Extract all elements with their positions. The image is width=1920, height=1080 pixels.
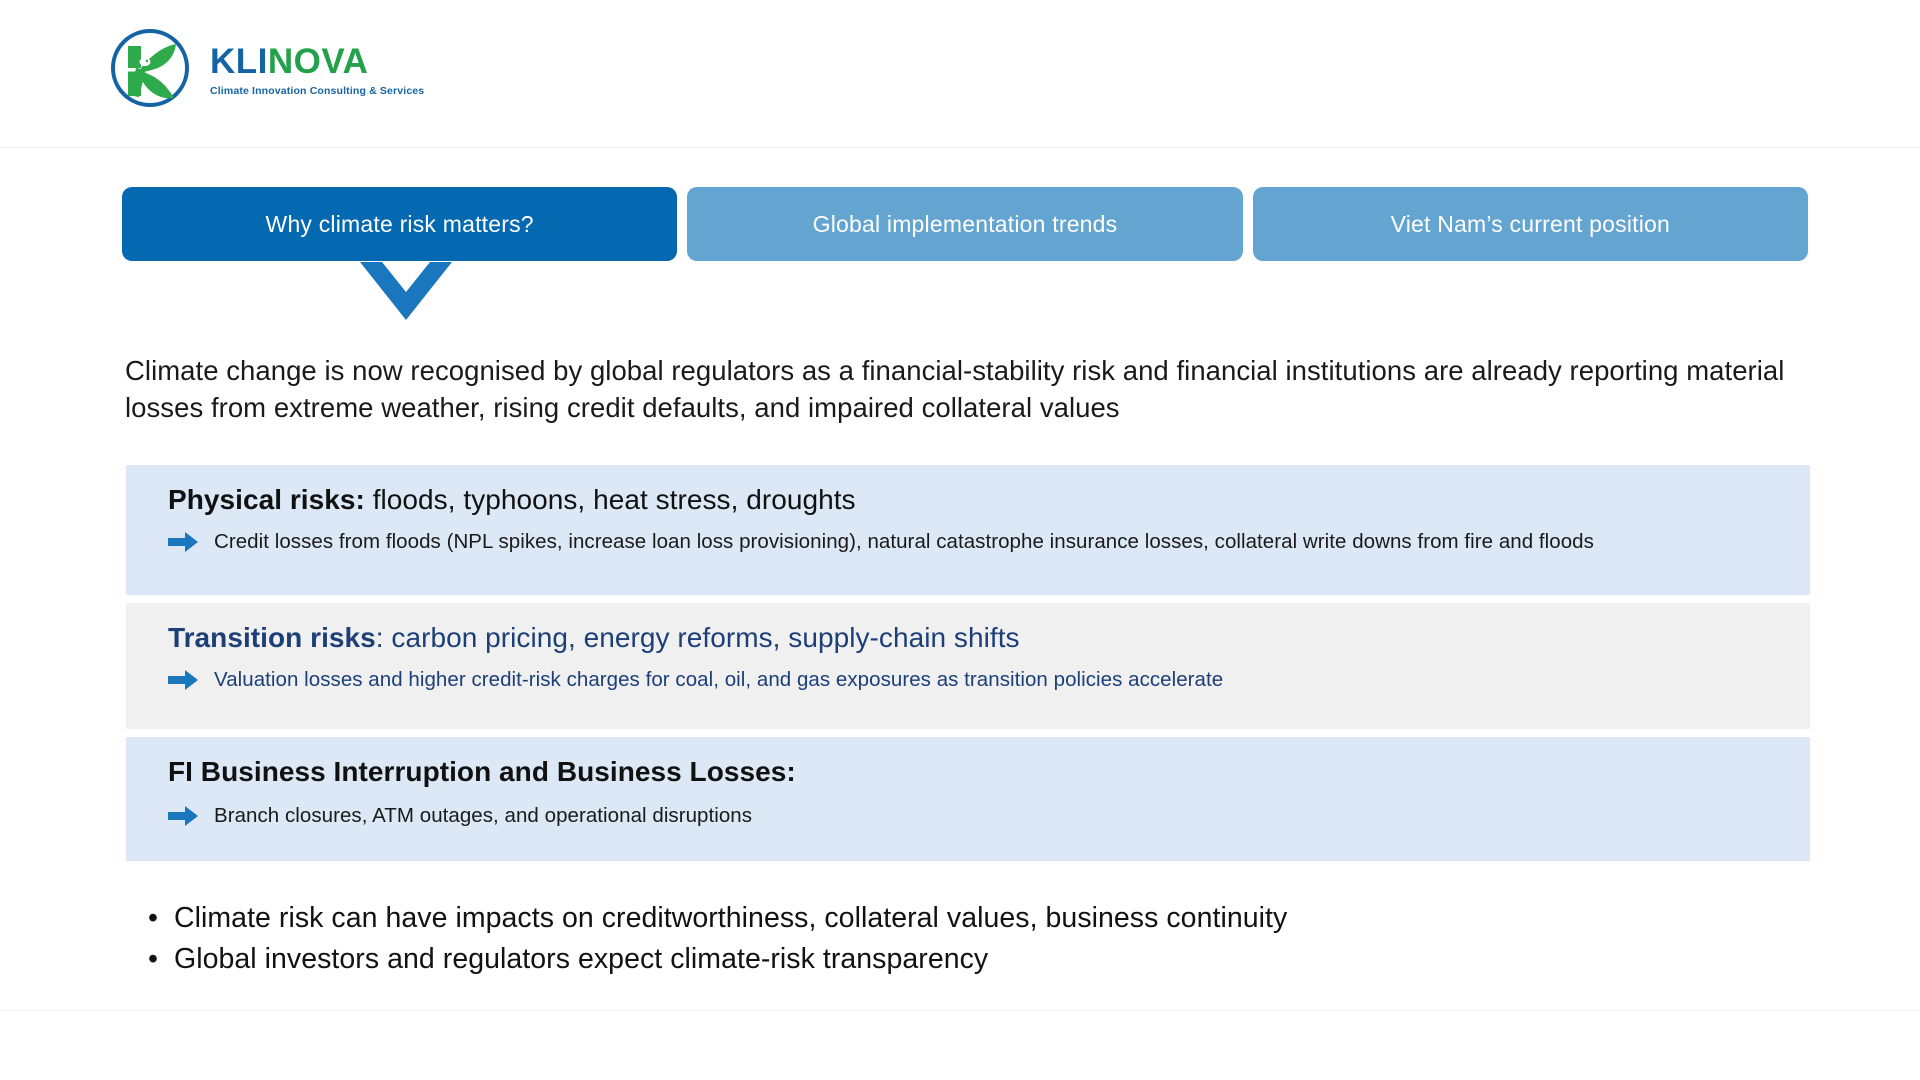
brand-name-part2: NOVA: [268, 42, 369, 81]
card-physical-risks-bullet: Credit losses from floods (NPL spikes, i…: [168, 529, 1810, 555]
footer-divider: [0, 1010, 1920, 1011]
card-fi-business-interruption: FI Business Interruption and Business Lo…: [126, 737, 1810, 861]
card-physical-risks: Physical risks: floods, typhoons, heat s…: [126, 465, 1810, 595]
brand-name-part1: KLI: [210, 42, 268, 81]
list-item: Global investors and regulators expect c…: [148, 939, 1748, 980]
card-physical-risks-title-rest: floods, typhoons, heat stress, droughts: [365, 484, 856, 515]
klinova-leaf-k-logo-icon: [104, 22, 196, 114]
card-transition-risks: Transition risks: carbon pricing, energy…: [126, 603, 1810, 729]
tab-global-implementation-trends[interactable]: Global implementation trends: [687, 187, 1242, 261]
brand-logo: KLINOVA Climate Innovation Consulting & …: [104, 22, 424, 114]
brand-tagline: Climate Innovation Consulting & Services: [210, 85, 424, 97]
right-arrow-icon: [168, 805, 198, 827]
card-transition-risks-title-rest: : carbon pricing, energy reforms, supply…: [376, 622, 1020, 653]
card-fi-business-interruption-bullet-text: Branch closures, ATM outages, and operat…: [214, 803, 1810, 829]
card-fi-business-interruption-title-lead: FI Business Interruption and Business Lo…: [168, 756, 796, 787]
card-transition-risks-bullet: Valuation losses and higher credit-risk …: [168, 667, 1810, 693]
slide-root: KLINOVA Climate Innovation Consulting & …: [0, 0, 1920, 1080]
card-physical-risks-title-lead: Physical risks:: [168, 484, 365, 515]
risk-cards: Physical risks: floods, typhoons, heat s…: [126, 465, 1810, 869]
key-takeaways-list: Climate risk can have impacts on creditw…: [148, 898, 1748, 980]
slide-header: KLINOVA Climate Innovation Consulting & …: [0, 0, 1920, 148]
card-fi-business-interruption-title: FI Business Interruption and Business Lo…: [168, 755, 1810, 789]
card-transition-risks-bullet-text: Valuation losses and higher credit-risk …: [214, 667, 1810, 693]
right-arrow-icon: [168, 531, 198, 553]
card-transition-risks-title-lead: Transition risks: [168, 622, 376, 653]
card-physical-risks-title: Physical risks: floods, typhoons, heat s…: [168, 483, 1810, 517]
list-item: Climate risk can have impacts on creditw…: [148, 898, 1748, 939]
card-fi-business-interruption-bullet: Branch closures, ATM outages, and operat…: [168, 803, 1810, 829]
card-physical-risks-bullet-text: Credit losses from floods (NPL spikes, i…: [214, 529, 1810, 555]
tab-why-climate-risk-matters[interactable]: Why climate risk matters?: [122, 187, 677, 261]
header-divider: [0, 147, 1920, 148]
tab-viet-nam-current-position[interactable]: Viet Nam’s current position: [1253, 187, 1808, 261]
intro-paragraph: Climate change is now recognised by glob…: [125, 352, 1805, 426]
card-transition-risks-title: Transition risks: carbon pricing, energy…: [168, 621, 1810, 655]
brand-wordmark: KLINOVA Climate Innovation Consulting & …: [210, 44, 424, 97]
section-tab-bar: Why climate risk matters? Global impleme…: [122, 187, 1808, 261]
right-arrow-icon: [168, 669, 198, 691]
